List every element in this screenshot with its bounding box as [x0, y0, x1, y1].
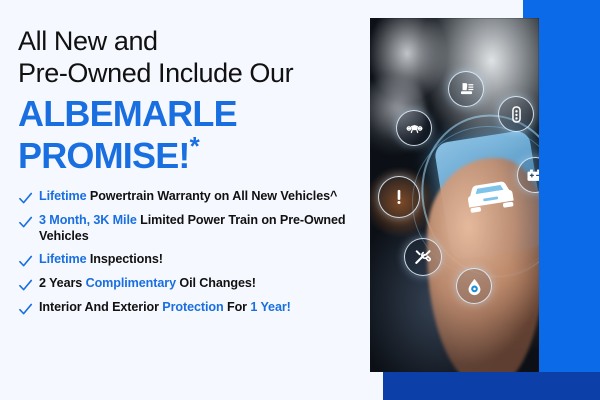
benefit-text-4: Interior And Exterior Protection For 1 Y… — [39, 300, 291, 316]
headline: All New and Pre-Owned Include Our — [18, 26, 368, 89]
benefit-segment: Powertrain Warranty on All New Vehicles^ — [90, 189, 337, 203]
tools-icon — [404, 238, 442, 276]
check-icon — [18, 278, 33, 293]
list-item: 2 Years Complimentary Oil Changes! — [18, 276, 368, 293]
benefit-segment: 2 Years — [39, 276, 86, 290]
promise-line-2: PROMISE!* — [18, 133, 368, 175]
benefit-text-3: 2 Years Complimentary Oil Changes! — [39, 276, 256, 292]
benefit-text-0: Lifetime Powertrain Warranty on All New … — [39, 189, 337, 205]
seat-icon — [448, 71, 484, 107]
check-icon — [18, 254, 33, 269]
benefit-segment: For — [227, 300, 250, 314]
oil-drop-icon — [456, 268, 492, 304]
benefits-list: Lifetime Powertrain Warranty on All New … — [18, 189, 368, 316]
warning-icon — [378, 176, 420, 218]
benefit-text-2: Lifetime Inspections! — [39, 252, 163, 268]
hero-photo — [370, 18, 539, 372]
check-icon — [18, 302, 33, 317]
benefit-segment: Complimentary — [86, 276, 180, 290]
check-icon — [18, 191, 33, 206]
key-fob-icon — [498, 96, 534, 132]
benefit-segment: 3 Month, 3K Mile — [39, 213, 140, 227]
promise-title: ALBEMARLE PROMISE!* — [18, 95, 368, 175]
benefit-segment: Lifetime — [39, 252, 90, 266]
list-item: Lifetime Inspections! — [18, 252, 368, 269]
promise-line-1: ALBEMARLE — [18, 95, 368, 133]
headline-line-1: All New and — [18, 26, 368, 58]
benefit-segment: Protection — [162, 300, 227, 314]
headline-line-2: Pre-Owned Include Our — [18, 58, 368, 90]
list-item: 3 Month, 3K Mile Limited Power Train on … — [18, 213, 368, 244]
benefit-segment: Lifetime — [39, 189, 90, 203]
benefit-segment: Interior And Exterior — [39, 300, 162, 314]
text-column: All New and Pre-Owned Include Our ALBEMA… — [0, 0, 368, 400]
accent-band-bottom — [383, 372, 600, 400]
list-item: Lifetime Powertrain Warranty on All New … — [18, 189, 368, 206]
benefit-segment: Inspections! — [90, 252, 163, 266]
promise-line-2-text: PROMISE! — [18, 135, 190, 176]
promotion-banner: All New and Pre-Owned Include Our ALBEMA… — [0, 0, 600, 400]
list-item: Interior And Exterior Protection For 1 Y… — [18, 300, 368, 317]
benefit-segment: Oil Changes! — [179, 276, 255, 290]
benefit-segment: 1 Year! — [250, 300, 290, 314]
benefit-text-1: 3 Month, 3K Mile Limited Power Train on … — [39, 213, 357, 244]
promise-asterisk: * — [190, 131, 199, 161]
suspension-icon — [396, 110, 432, 146]
check-icon — [18, 215, 33, 230]
